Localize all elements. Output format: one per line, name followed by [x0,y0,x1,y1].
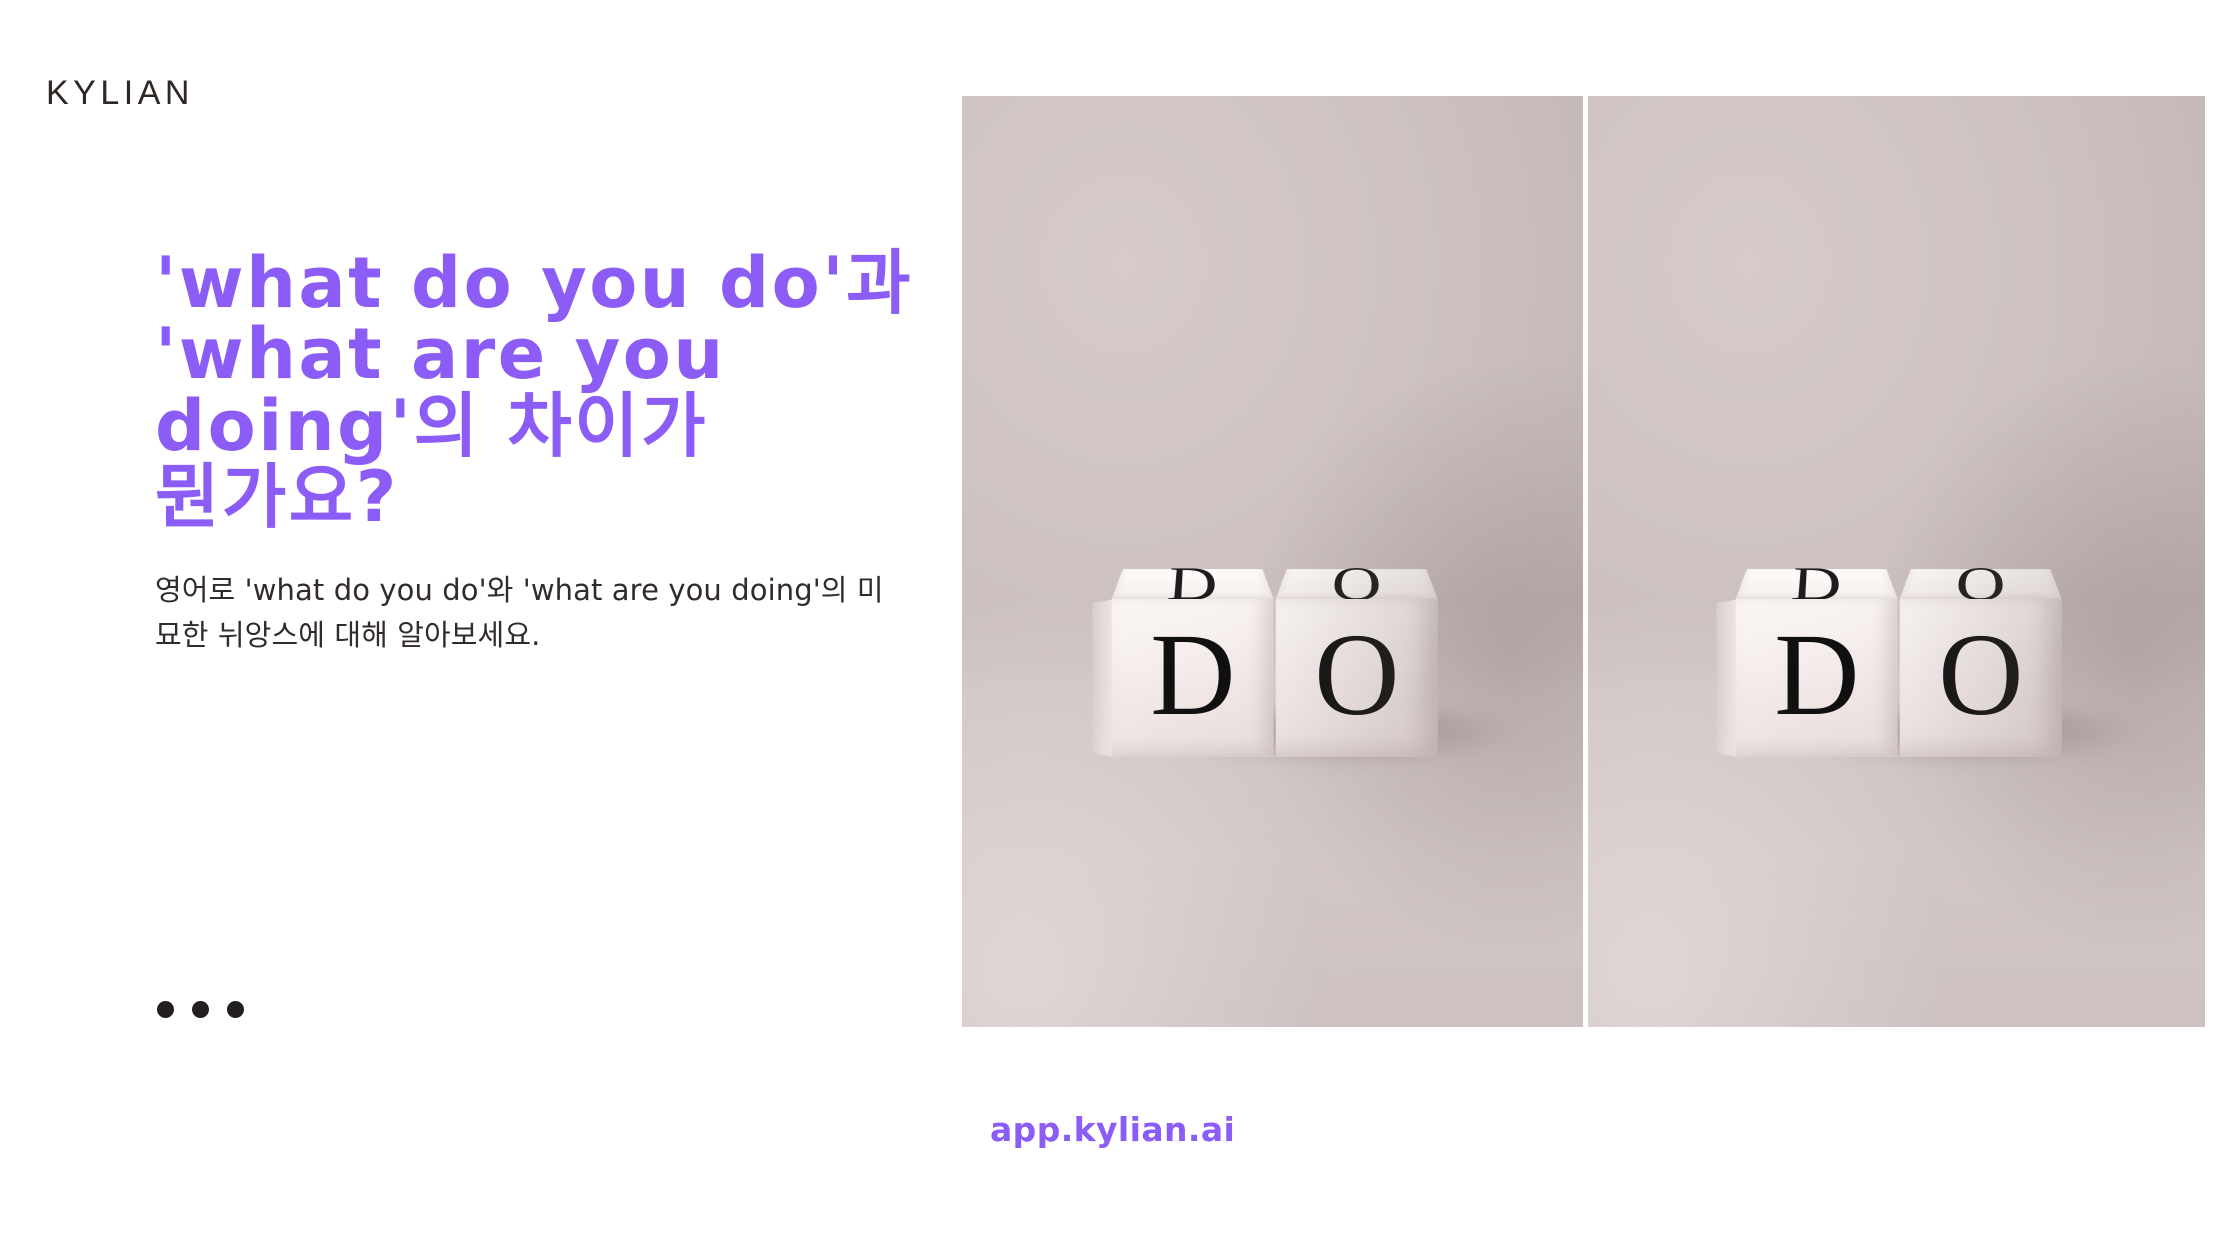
photo-half-right: D D O O [1583,96,2206,1027]
dot-icon [227,1001,244,1018]
block-front-face: O [1900,599,2062,757]
brand-logo: KYLIAN [46,76,194,110]
block-top-face: D [1736,569,1898,599]
footer-url[interactable]: app.kylian.ai [990,1110,1235,1149]
letter-blocks-scene: D D O O [1678,502,2098,757]
block-top-face: O [1900,569,2062,599]
block-front-face: D [1112,599,1274,757]
letter-blocks-scene: D D O O [1054,502,1474,757]
block-front-face: D [1736,599,1898,757]
block-front-letter: D [1150,616,1235,734]
dot-icon [157,1001,174,1018]
photo-half-left: D D O O [962,96,1583,1027]
dots-decoration [157,1001,244,1018]
page-subtitle: 영어로 'what do you do'와 'what are you doin… [155,568,895,658]
block-top-face: O [1276,569,1438,599]
block-front-letter: O [1938,616,2023,734]
block-front-letter: D [1774,616,1859,734]
photo-panel: D D O O D [962,96,2205,1027]
block-front-letter: O [1314,616,1399,734]
page-title: 'what do you do'과 'what are you doing'의 … [155,248,945,534]
block-top-face: D [1112,569,1274,599]
block-front-face: O [1276,599,1438,757]
text-column: 'what do you do'과 'what are you doing'의 … [155,248,945,657]
dot-icon [192,1001,209,1018]
